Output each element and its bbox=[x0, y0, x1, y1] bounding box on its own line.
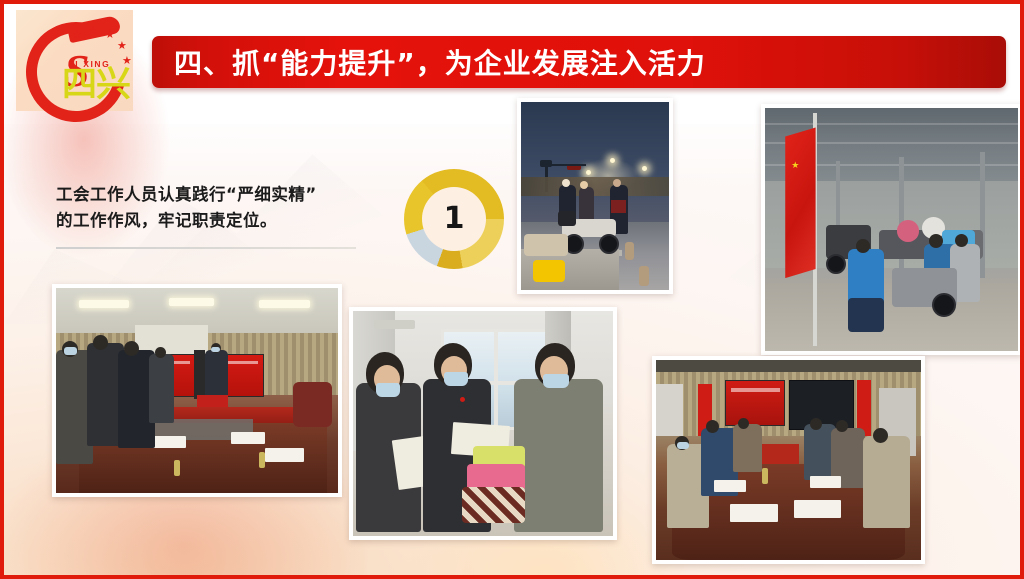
support-column bbox=[980, 152, 985, 278]
logo-chinese-text: 四兴 bbox=[62, 68, 130, 103]
scooter-wheel bbox=[826, 254, 846, 274]
slide-root: S ★ ★ ★ ★ ★ SI XING 四兴 四、抓“能力提升”，为企业发展注入… bbox=[0, 0, 1024, 579]
red-display bbox=[725, 380, 785, 426]
section-title-text: 四、抓“能力提升”，为企业发展注入活力 bbox=[174, 42, 706, 82]
paper-document bbox=[794, 500, 842, 518]
attendee-seated-6 bbox=[863, 436, 911, 528]
helmet-icon bbox=[897, 220, 920, 242]
ceiling-light bbox=[169, 298, 214, 306]
scooter-yellow-box bbox=[533, 260, 566, 283]
photo-meeting-table bbox=[652, 356, 925, 564]
person-trousers bbox=[848, 298, 883, 332]
traffic-arm bbox=[548, 164, 586, 166]
street-lamp-icon bbox=[586, 170, 591, 175]
scooter-wheel bbox=[599, 234, 619, 254]
patterned-bag bbox=[462, 487, 524, 523]
face-mask-icon bbox=[64, 347, 77, 355]
section-title-banner: 四、抓“能力提升”，为企业发展注入活力 bbox=[152, 36, 1006, 88]
number-badge-center: 1 bbox=[422, 187, 486, 251]
attendee-head bbox=[93, 335, 108, 350]
party-badge bbox=[460, 397, 465, 402]
treeline bbox=[521, 177, 669, 196]
water-cup bbox=[762, 468, 768, 484]
presenter bbox=[205, 350, 228, 399]
person-jacket bbox=[611, 200, 626, 213]
window-mullion bbox=[494, 332, 498, 427]
scooter-wheel bbox=[932, 293, 956, 317]
attendee-seated-3 bbox=[733, 424, 762, 472]
face-mask-icon bbox=[543, 374, 569, 388]
caption-divider bbox=[56, 247, 356, 249]
paper-document bbox=[714, 480, 746, 492]
roof-beam bbox=[765, 123, 1018, 125]
face-mask-icon bbox=[376, 383, 400, 397]
water-cup bbox=[259, 452, 265, 468]
attendee-standing-4 bbox=[149, 354, 174, 424]
person-head bbox=[613, 179, 621, 187]
caption-block: 工会工作人员认真践行“严细实精” 的工作作风，牢记职责定位。 bbox=[56, 182, 378, 233]
chair bbox=[293, 382, 332, 427]
caption-line-1: 工会工作人员认真践行“严细实精” bbox=[56, 182, 378, 208]
wall-hook bbox=[374, 320, 416, 329]
chinese-flag-icon: ★ bbox=[785, 127, 815, 278]
ceiling-band bbox=[656, 360, 921, 372]
ceiling-light bbox=[79, 300, 130, 308]
attendee-head bbox=[810, 418, 822, 430]
face-mask-icon bbox=[444, 372, 468, 386]
attendee-head bbox=[124, 341, 139, 356]
si-xing-logo: S ★ ★ ★ ★ ★ SI XING 四兴 bbox=[16, 10, 133, 111]
display-text bbox=[731, 388, 780, 392]
paper-document bbox=[231, 432, 265, 444]
bollard bbox=[639, 266, 649, 286]
ceiling-light bbox=[259, 300, 310, 308]
person-helmet-icon bbox=[562, 179, 570, 187]
paper-document bbox=[730, 504, 778, 522]
cabinet bbox=[656, 384, 683, 436]
number-badge-value: 1 bbox=[444, 204, 465, 234]
number-badge-donut: 1 bbox=[404, 169, 504, 269]
display-gap bbox=[194, 350, 205, 399]
caption-line-2: 的工作作风，牢记职责定位。 bbox=[56, 208, 378, 234]
photo-night-street bbox=[517, 98, 673, 294]
photo-scooter-shed: ★ bbox=[761, 104, 1022, 355]
photo-home-visit bbox=[349, 307, 617, 540]
water-cup bbox=[174, 460, 180, 476]
scooter-body bbox=[524, 234, 568, 257]
bollard bbox=[625, 242, 634, 260]
face-mask-icon bbox=[677, 442, 689, 449]
person-right-coat bbox=[514, 379, 602, 532]
scooter-seat bbox=[558, 211, 576, 226]
paper-document bbox=[810, 476, 842, 488]
flag-star: ★ bbox=[791, 161, 799, 170]
paper-document bbox=[265, 448, 304, 462]
paper-document bbox=[152, 436, 186, 448]
photo-conference bbox=[52, 284, 342, 497]
